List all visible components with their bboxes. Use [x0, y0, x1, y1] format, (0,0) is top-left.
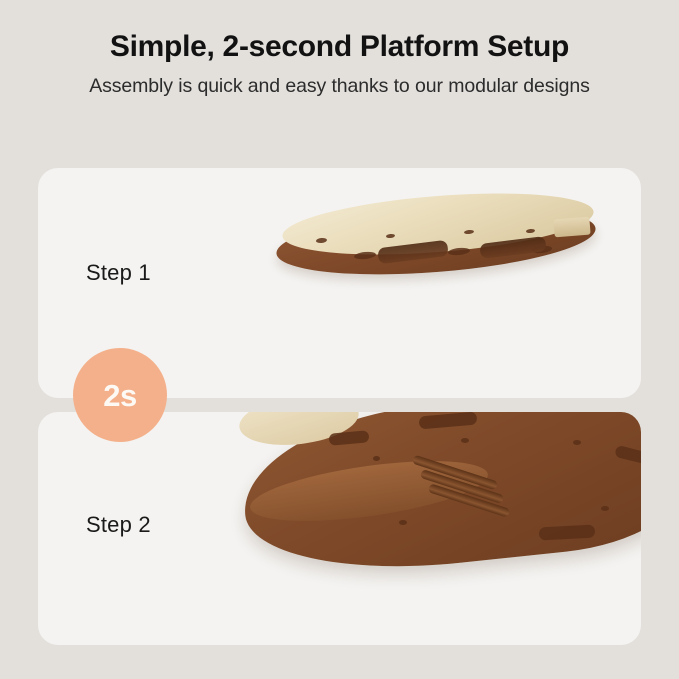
- platform-underside-illustration: [243, 412, 641, 582]
- board-hole: [399, 520, 407, 525]
- platform-board-illustration: [268, 196, 608, 286]
- step-1-label: Step 1: [86, 260, 151, 286]
- board-side-notch: [553, 217, 590, 238]
- board-hole: [461, 438, 469, 443]
- board-hole: [573, 440, 581, 445]
- page-subtitle: Assembly is quick and easy thanks to our…: [0, 64, 679, 98]
- step-2-label: Step 2: [86, 512, 151, 538]
- page-title: Simple, 2-second Platform Setup: [0, 0, 679, 64]
- header: Simple, 2-second Platform Setup Assembly…: [0, 0, 679, 98]
- step-2-panel: Step 2: [38, 412, 641, 645]
- infographic-page: Simple, 2-second Platform Setup Assembly…: [0, 0, 679, 679]
- duration-badge: 2s: [73, 348, 167, 442]
- duration-badge-text: 2s: [103, 380, 136, 411]
- board-hole: [373, 456, 380, 461]
- board-hole: [601, 506, 609, 511]
